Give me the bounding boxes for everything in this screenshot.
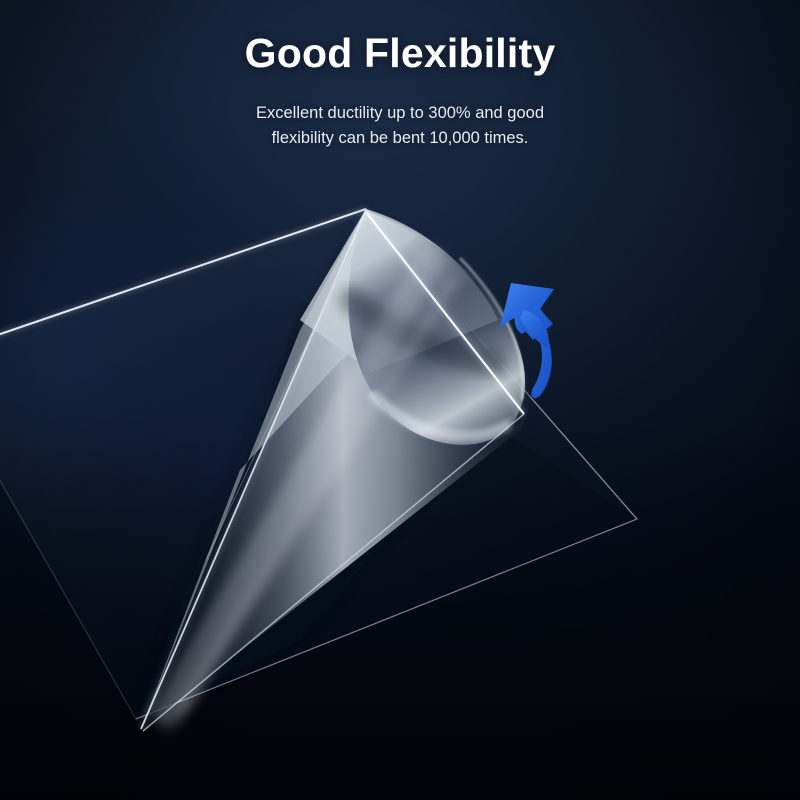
promo-banner: Good Flexibility Excellent ductility up … <box>0 0 800 800</box>
page-subtitle: Excellent ductility up to 300% and good … <box>190 101 610 151</box>
page-title: Good Flexibility <box>0 30 800 77</box>
subtitle-line-2: flexibility can be bent 10,000 times. <box>190 126 610 151</box>
subtitle-line-1: Excellent ductility up to 300% and good <box>190 101 610 126</box>
